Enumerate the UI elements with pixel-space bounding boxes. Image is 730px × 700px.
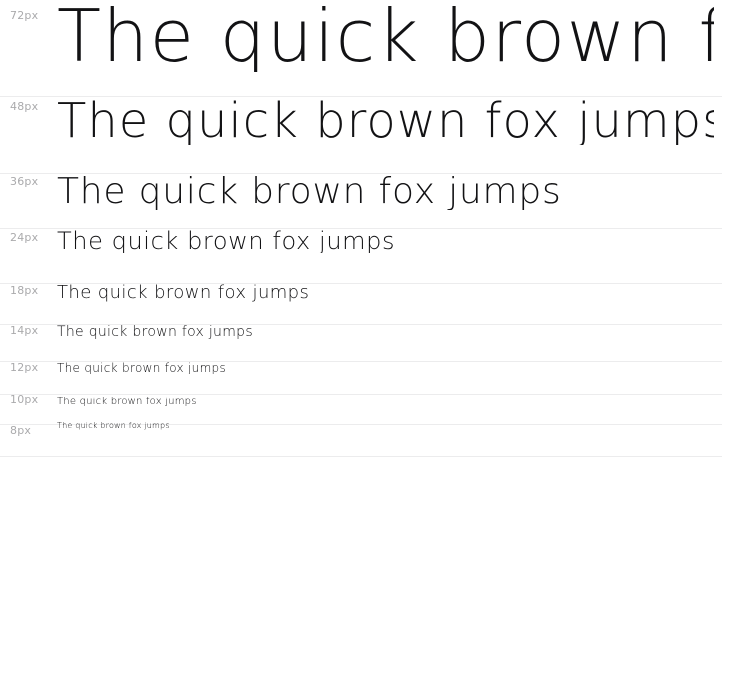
specimen-row: 8px The quick brown fox jumps <box>0 425 722 457</box>
sample-text-24: The quick brown fox jumps <box>57 229 714 253</box>
size-label-48: 48px <box>10 101 57 112</box>
sample-text-14: The quick brown fox jumps <box>57 325 714 339</box>
specimen-row: 18px The quick brown fox jumps <box>0 284 722 325</box>
sample-text-48: The quick brown fox jumps <box>57 97 714 145</box>
specimen-row: 36px The quick brown fox jumps <box>0 174 722 229</box>
specimen-row: 24px The quick brown fox jumps <box>0 229 722 284</box>
specimen-row: 72px The quick brown fox jumps <box>0 0 722 97</box>
size-label-36: 36px <box>10 176 57 187</box>
sample-text-72: The quick brown fox jumps <box>57 0 714 72</box>
size-label-10: 10px <box>10 394 57 405</box>
size-label-14: 14px <box>10 325 57 336</box>
size-label-24: 24px <box>10 232 57 243</box>
size-label-18: 18px <box>10 285 57 296</box>
sample-text-10: The quick brown fox jumps <box>57 397 714 407</box>
sample-text-18: The quick brown fox jumps <box>57 284 714 302</box>
specimen-row: 10px The quick brown fox jumps <box>0 395 722 425</box>
font-size-waterfall-list: 72px The quick brown fox jumps 48px The … <box>0 0 730 457</box>
sample-text-12: The quick brown fox jumps <box>57 362 714 374</box>
specimen-row: 14px The quick brown fox jumps <box>0 325 722 362</box>
specimen-row: 48px The quick brown fox jumps <box>0 97 722 174</box>
size-label-72: 72px <box>10 10 57 21</box>
size-label-8: 8px <box>10 425 57 436</box>
size-label-12: 12px <box>10 362 57 373</box>
sample-text-36: The quick brown fox jumps <box>57 174 714 210</box>
specimen-row: 12px The quick brown fox jumps <box>0 362 722 395</box>
sample-text-8: The quick brown fox jumps <box>57 422 714 430</box>
